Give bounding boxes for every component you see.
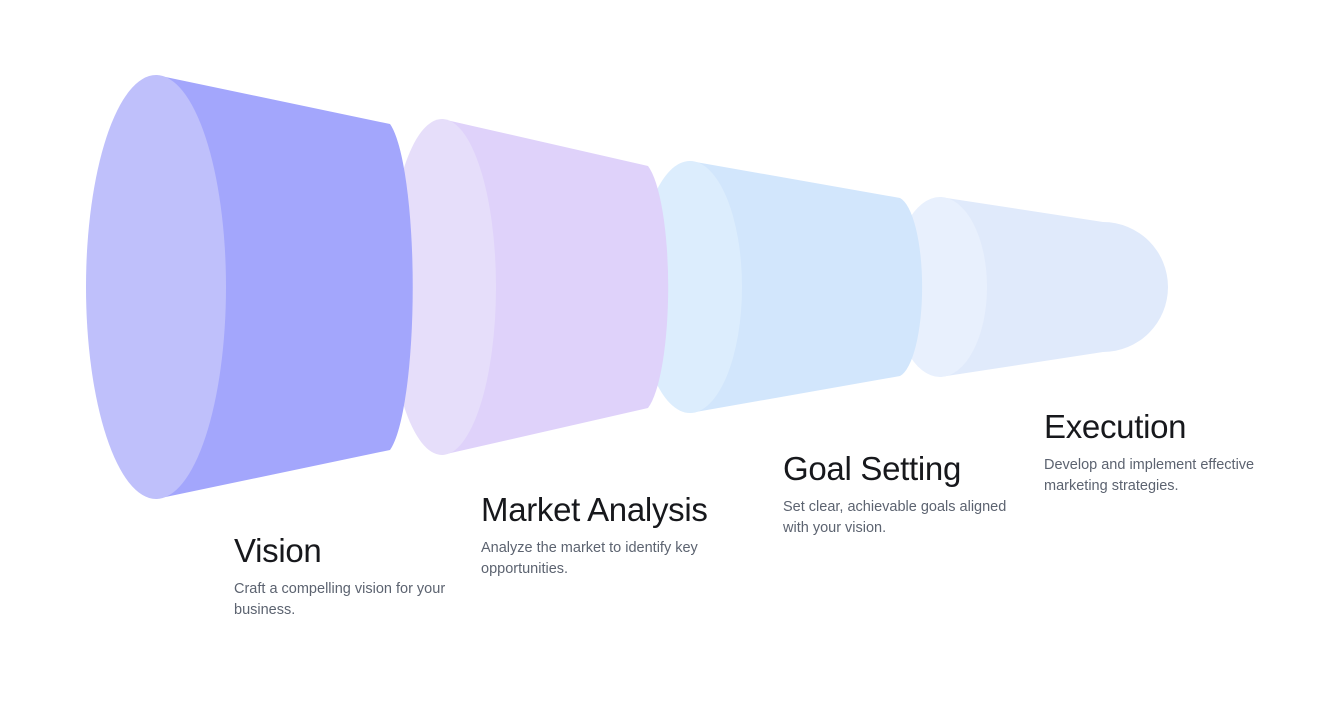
funnel-label-market-analysis-title: Market Analysis xyxy=(481,491,711,529)
funnel-label-execution-description: Develop and implement effective marketin… xyxy=(1044,455,1274,497)
funnel-label-execution-title: Execution xyxy=(1044,408,1274,446)
funnel-segment-market-analysis[interactable] xyxy=(388,119,668,455)
funnel-label-vision-description: Craft a compelling vision for your busin… xyxy=(234,579,464,621)
funnel-graphic xyxy=(0,0,1342,704)
funnel-label-vision-title: Vision xyxy=(234,532,464,570)
funnel-segment-execution[interactable] xyxy=(893,197,1168,377)
funnel-label-execution: Execution Develop and implement effectiv… xyxy=(1044,408,1274,497)
funnel-label-goal-setting-title: Goal Setting xyxy=(783,450,1013,488)
funnel-label-vision: Vision Craft a compelling vision for you… xyxy=(234,532,464,621)
funnel-label-goal-setting: Goal Setting Set clear, achievable goals… xyxy=(783,450,1013,539)
funnel-segment-vision-cap xyxy=(86,75,226,499)
funnel-label-market-analysis-description: Analyze the market to identify key oppor… xyxy=(481,538,711,580)
funnel-label-goal-setting-description: Set clear, achievable goals aligned with… xyxy=(783,497,1013,539)
funnel-label-market-analysis: Market Analysis Analyze the market to id… xyxy=(481,491,711,580)
funnel-segment-vision[interactable] xyxy=(86,75,413,499)
funnel-diagram: Vision Craft a compelling vision for you… xyxy=(0,0,1342,704)
funnel-segment-goal-setting[interactable] xyxy=(638,161,922,413)
